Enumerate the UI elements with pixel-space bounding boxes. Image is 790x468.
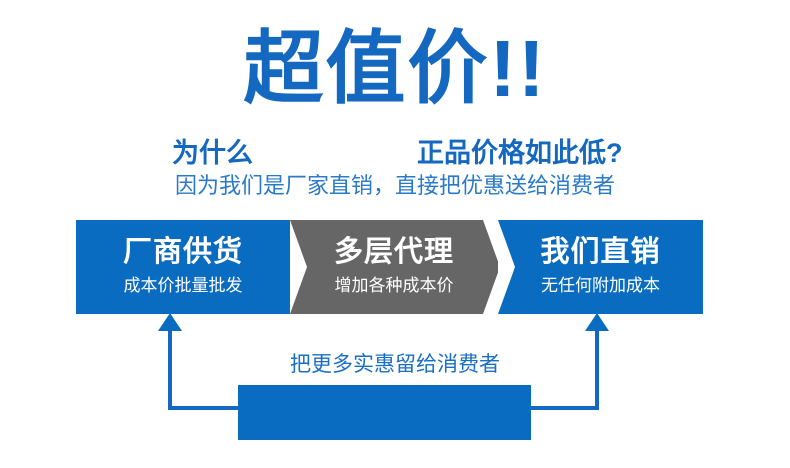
flow-step-subtitle: 成本价批量批发 [76,275,290,297]
bottom-bar [238,385,531,440]
connector-right-horizontal [525,406,599,410]
supply-chain-flow: 厂商供货 成本价批量批发 多层代理 增加各种成本价 我们直销 无任何附加成本 [0,220,790,314]
subheadline-right: 正品价格如此低? [417,137,623,169]
subheadline-left: 为什么 [172,137,253,169]
bottom-caption: 把更多实惠留给消费者 [0,352,790,378]
flow-step-title: 我们直销 [498,235,703,269]
flow-step-title: 厂商供货 [76,235,290,269]
arrow-up-right-icon [585,313,609,331]
promo-banner: 超值价!! 为什么 正品价格如此低? 因为我们是厂家直销，直接把优惠送给消费者 … [0,0,790,468]
flow-step-manufacturer: 厂商供货 成本价批量批发 [76,220,290,314]
arrow-up-left-icon [158,313,182,331]
flow-step-title: 多层代理 [290,235,498,269]
flow-step-direct-sales: 我们直销 无任何附加成本 [498,220,703,314]
flow-step-subtitle: 无任何附加成本 [498,275,703,297]
flow-step-middlemen: 多层代理 增加各种成本价 [290,220,498,314]
tagline: 因为我们是厂家直销，直接把优惠送给消费者 [0,172,790,200]
page-title: 超值价!! [0,26,790,112]
subheadline-row: 为什么 正品价格如此低? [172,137,622,169]
connector-left-horizontal [168,406,244,410]
flow-step-subtitle: 增加各种成本价 [290,275,498,297]
